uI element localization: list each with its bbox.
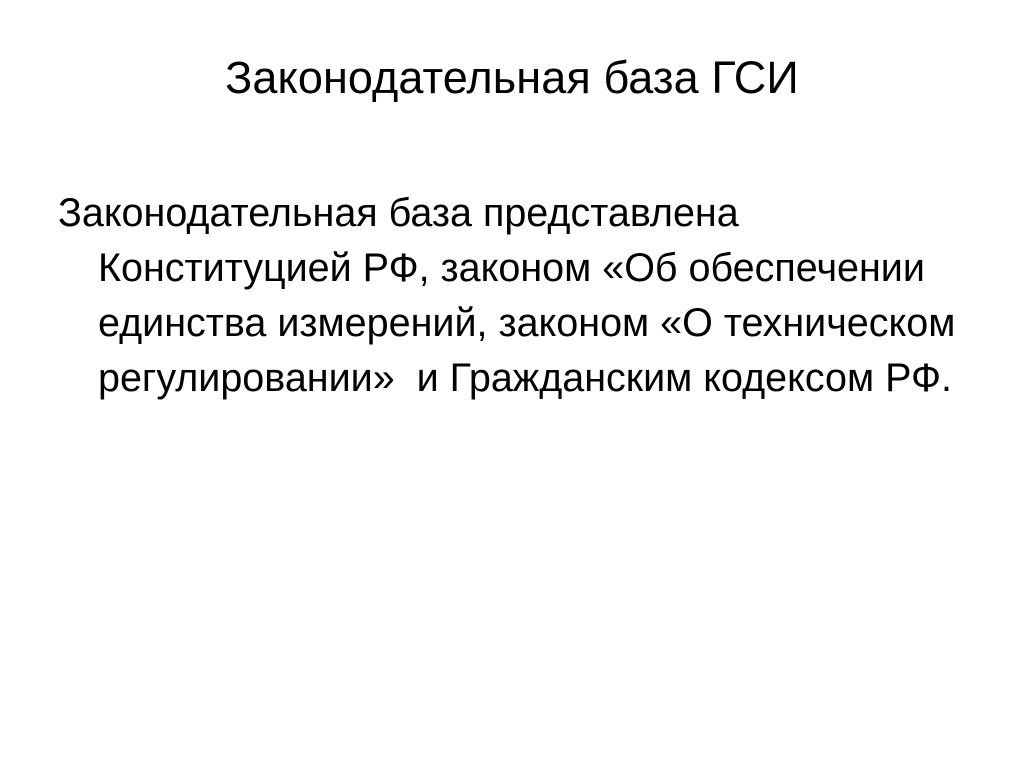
page-title: Законодательная база ГСИ [60, 52, 964, 104]
body-block: Законодательная база представлена Консти… [58, 186, 988, 406]
title-block: Законодательная база ГСИ [60, 52, 964, 104]
body-paragraph: Законодательная база представлена Консти… [58, 186, 988, 406]
slide: Законодательная база ГСИ Законодательная… [0, 0, 1024, 767]
